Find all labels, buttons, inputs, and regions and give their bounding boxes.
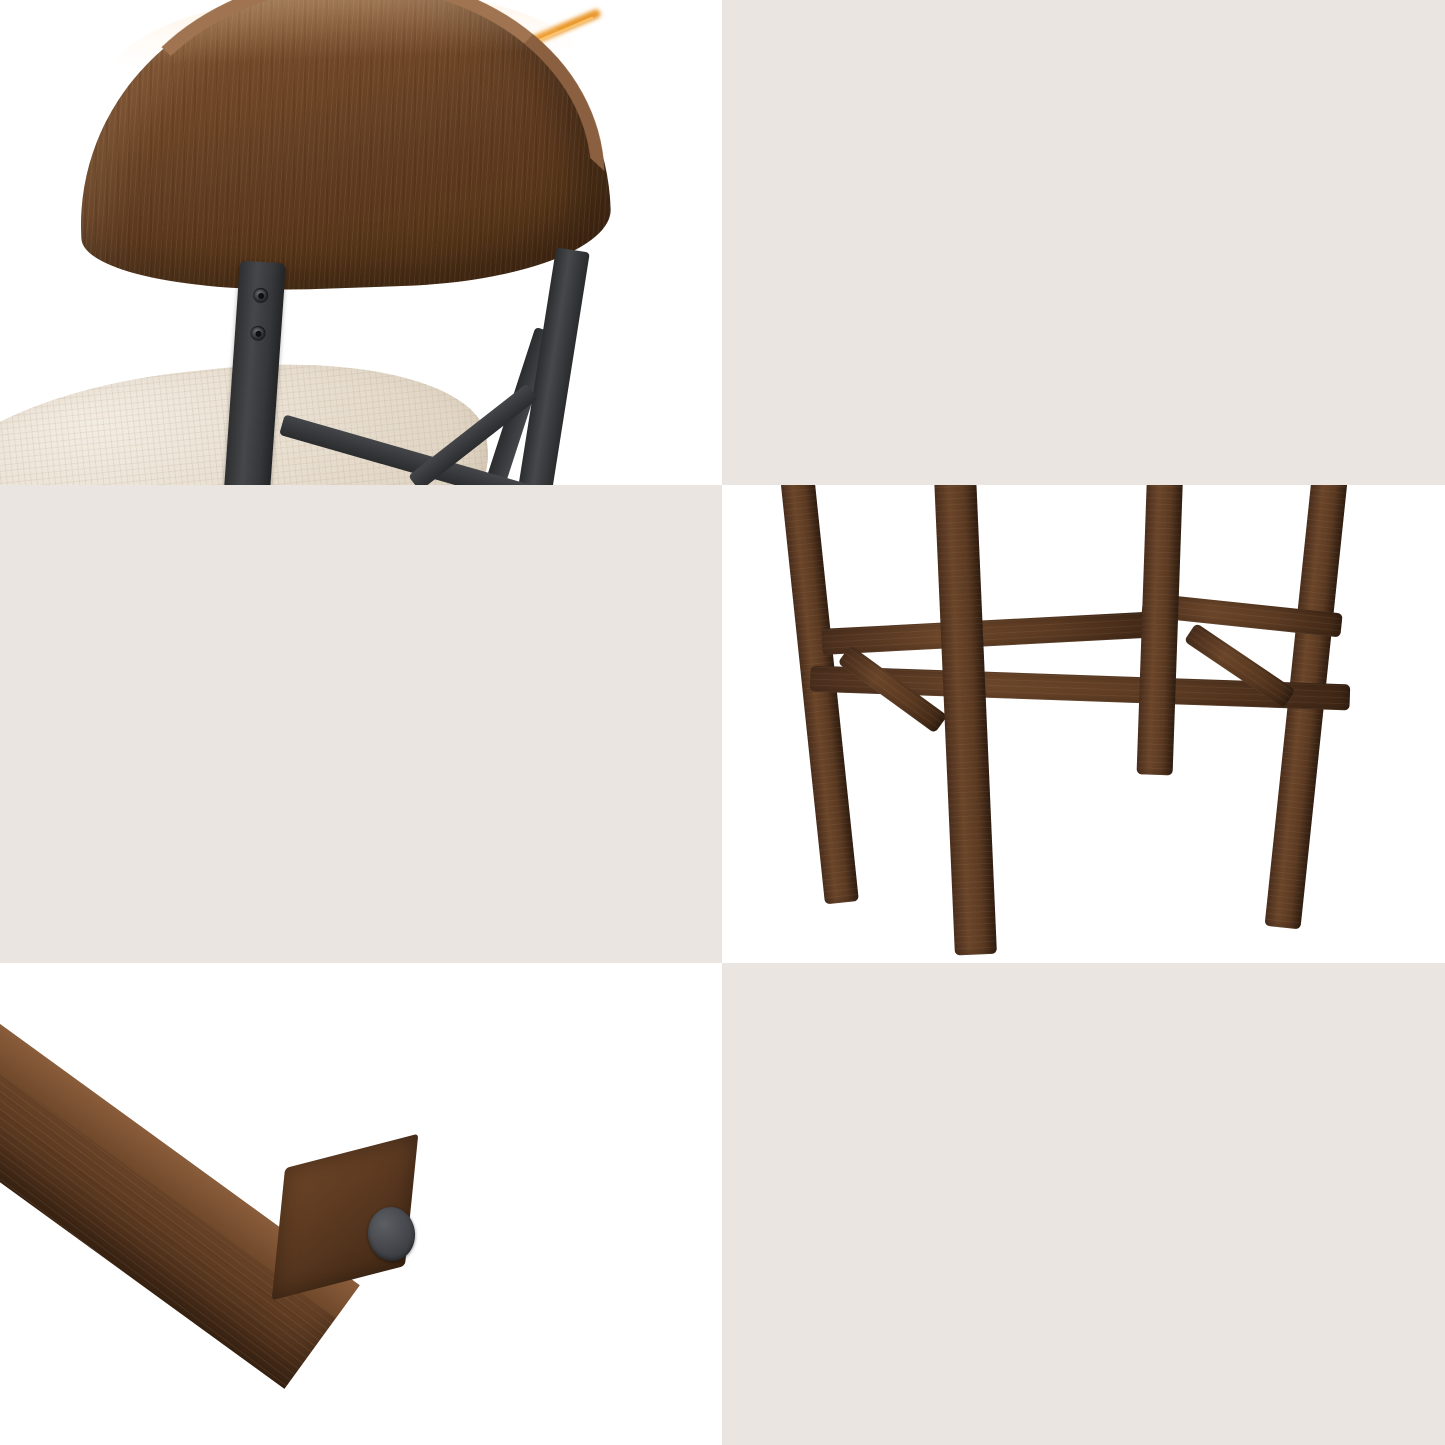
screw-icon [250,325,266,341]
feature-infographic: Ergonomic Backrest Align with your spine… [0,0,1445,1445]
feature-panel-integrated-footrest: Integrated Footrest Allow you to rest in… [0,485,722,963]
stool-base-illustration [722,485,1445,963]
feature-panel-non-slip-foot-pads: Non-slip Foot Pads Enhance stability & p… [722,963,1445,1445]
feature-panel-ergonomic-backrest: Ergonomic Backrest Align with your spine… [722,0,1445,485]
stool-leg [780,485,859,904]
stool-footrest-photo [722,485,1445,963]
chair-backrest-illustration [0,0,722,485]
screw-icon [253,287,269,303]
chair-backrest-photo [0,0,722,485]
footrest-rail [822,611,1163,655]
stool-leg [1137,485,1183,775]
